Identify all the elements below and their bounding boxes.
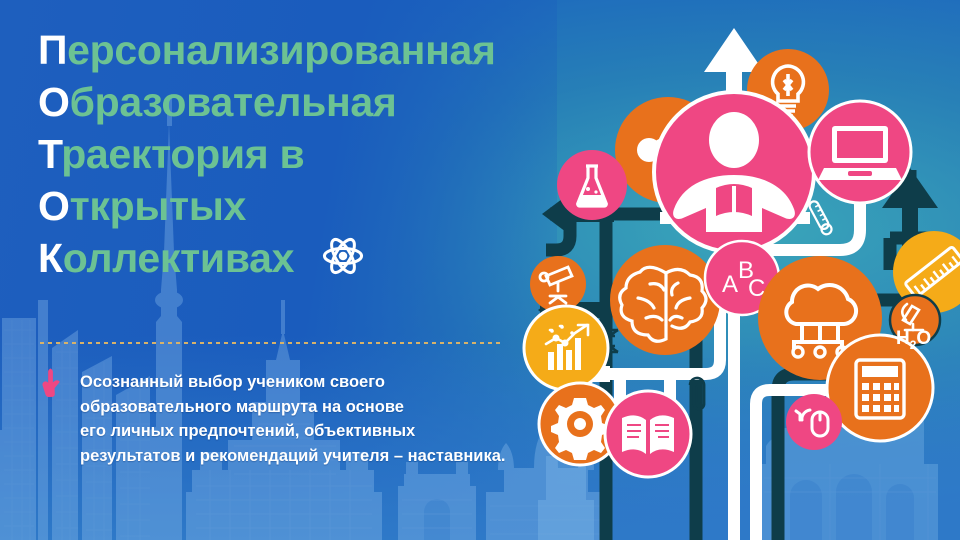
title-rest-3: раектория в bbox=[61, 131, 304, 177]
open-book-icon bbox=[605, 391, 691, 477]
title-rest-4: ткрытых bbox=[70, 183, 246, 229]
title-cap-4: О bbox=[38, 183, 70, 229]
subtitle-line-4: результатов и рекомендаций учителя – нас… bbox=[80, 444, 550, 469]
title-line-4: Открытых bbox=[38, 180, 558, 232]
flask-icon bbox=[557, 150, 627, 220]
dotted-divider bbox=[40, 342, 502, 344]
brain-icon bbox=[610, 245, 720, 355]
telescope-icon bbox=[530, 256, 586, 312]
title-cap-3: Т bbox=[38, 131, 61, 177]
title-line-5: Коллективах bbox=[38, 232, 558, 290]
title-cap-2: О bbox=[38, 79, 70, 125]
h2o-o: O bbox=[916, 328, 931, 349]
subtitle-line-1: Осознанный выбор учеником своего bbox=[80, 370, 550, 395]
laptop-icon bbox=[809, 101, 911, 203]
svg-text:A: A bbox=[722, 271, 738, 298]
title-line-3: Траектория в bbox=[38, 128, 558, 180]
subtitle-block: Осознанный выбор учеником своего образов… bbox=[80, 370, 550, 468]
atom-icon bbox=[321, 234, 365, 290]
title-line-1: Персонализированная bbox=[38, 24, 558, 76]
h2o-h: H bbox=[896, 328, 910, 349]
subtitle-line-3: его личных предпочтений, объективных bbox=[80, 419, 550, 444]
h2o-label: H2O bbox=[896, 328, 931, 352]
pointing-hand-icon bbox=[42, 366, 68, 405]
person-reading-book-icon bbox=[654, 92, 814, 252]
title-rest-1: ерсонализированная bbox=[67, 27, 496, 73]
title-line-2: Образовательная bbox=[38, 76, 558, 128]
thermometer-icon bbox=[808, 200, 834, 236]
chart-growth-icon bbox=[524, 306, 608, 390]
title-cap-1: П bbox=[38, 27, 67, 73]
title-cap-5: К bbox=[38, 235, 63, 281]
education-icon-tree: A B C bbox=[510, 0, 960, 540]
title-rest-2: бразовательная bbox=[70, 79, 397, 125]
mouse-click-icon bbox=[786, 394, 842, 450]
title-rest-5: оллективах bbox=[63, 235, 294, 281]
title-block: Персонализированная Образовательная Трае… bbox=[38, 24, 558, 290]
slide-canvas: Персонализированная Образовательная Трае… bbox=[0, 0, 960, 540]
subtitle-line-2: образовательного маршрута на основе bbox=[80, 395, 550, 420]
